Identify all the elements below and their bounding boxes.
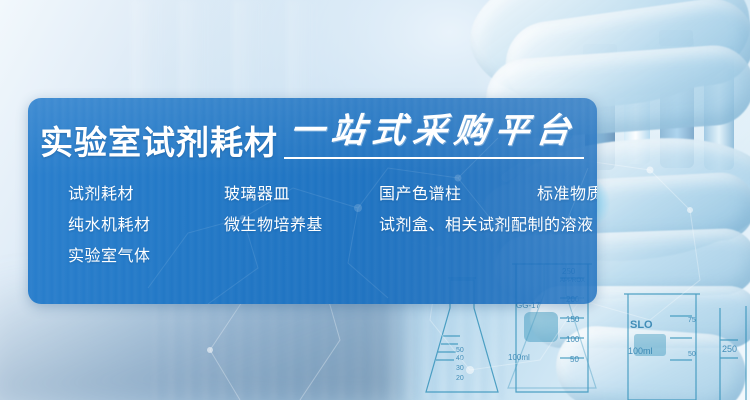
category-row: 试剂耗材 玻璃器皿 国产色谱柱 标准物质 [40, 184, 596, 215]
panel-title-brush: 一站式采购平台 [288, 114, 579, 148]
category-item-reagent-kits-solutions[interactable]: 试剂盒、相关试剂配制的溶液 [379, 215, 594, 237]
lab-reagent-banner: 250 APPROX 200 150 100 50 GG-17 100ml 50… [0, 0, 750, 400]
panel-title-main: 实验室试剂耗材 [40, 126, 278, 159]
category-row: 实验室气体 [40, 246, 596, 277]
category-row: 纯水机耗材 微生物培养基 试剂盒、相关试剂配制的溶液 [40, 215, 596, 246]
beaker-tick-50b: 50 [688, 351, 696, 358]
beaker-volume-100ml: 100ml [508, 353, 530, 362]
category-item-domestic-chromatography-column[interactable]: 国产色谱柱 [379, 184, 462, 206]
category-item-reference-materials[interactable]: 标准物质 [537, 184, 597, 206]
panel-title: 实验室试剂耗材 一站式采购平台 [40, 114, 577, 159]
category-item-laboratory-gases[interactable]: 实验室气体 [68, 246, 151, 268]
flask-tick-20: 20 [456, 375, 464, 382]
beaker-tick-250b: 250 [722, 344, 737, 354]
promo-panel: 实验室试剂耗材 一站式采购平台 试剂耗材 玻璃器皿 国产色谱柱 标准物质 纯水机… [28, 98, 597, 304]
flask-tick-50: 50 [456, 347, 464, 354]
beaker-volume-100ml-2: 100ml [628, 346, 653, 356]
category-item-reagent-consumables[interactable]: 试剂耗材 [68, 184, 134, 206]
flask-tick-30: 30 [456, 365, 464, 372]
category-item-water-purifier-consumables[interactable]: 纯水机耗材 [68, 215, 151, 237]
category-item-microbial-culture-media[interactable]: 微生物培养基 [224, 215, 323, 237]
panel-title-brush-wrap: 一站式采购平台 [290, 114, 577, 159]
beaker-tick-50: 50 [570, 355, 579, 364]
title-underline [284, 157, 584, 159]
beaker-tick-150: 150 [566, 315, 580, 324]
beaker-brand-slo: SLO [630, 319, 653, 331]
flask-tick-40: 40 [456, 355, 464, 362]
beaker-tick-75: 75 [688, 317, 696, 324]
category-item-glassware[interactable]: 玻璃器皿 [224, 184, 290, 206]
beaker-tick-100: 100 [566, 335, 580, 344]
category-grid: 试剂耗材 玻璃器皿 国产色谱柱 标准物质 纯水机耗材 微生物培养基 试剂盒、相关… [40, 184, 596, 277]
